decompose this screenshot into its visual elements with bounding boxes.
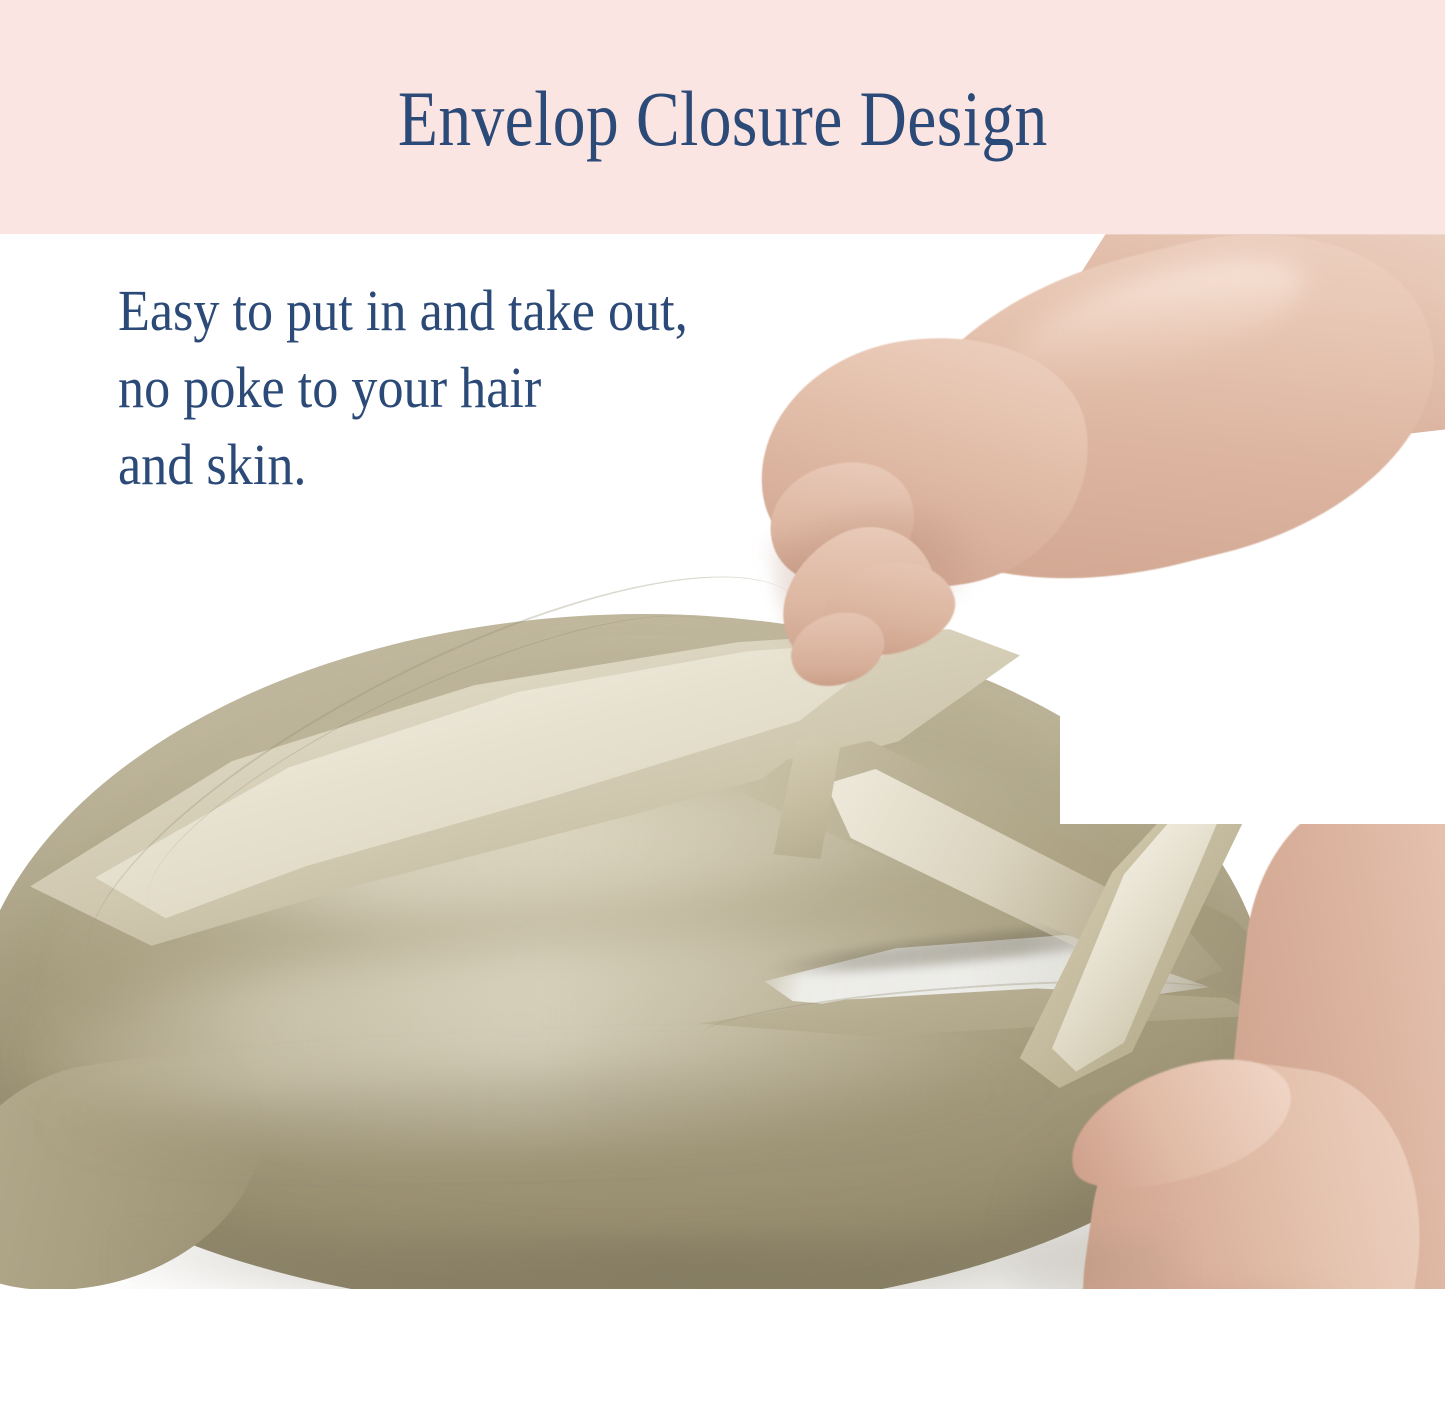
photo-mask-bottom <box>0 1289 1445 1404</box>
page-title: Envelop Closure Design <box>398 80 1048 158</box>
product-feature-image: Easy to put in and take out, no poke to … <box>0 0 1445 1404</box>
feature-description-line-2: no poke to your hair <box>118 349 688 426</box>
photo-mask-top-right <box>1060 564 1445 824</box>
feature-description-line-1: Easy to put in and take out, <box>118 272 688 349</box>
feature-description: Easy to put in and take out, no poke to … <box>118 272 688 503</box>
feature-description-line-3: and skin. <box>118 426 688 503</box>
header-banner: Envelop Closure Design <box>0 0 1445 234</box>
